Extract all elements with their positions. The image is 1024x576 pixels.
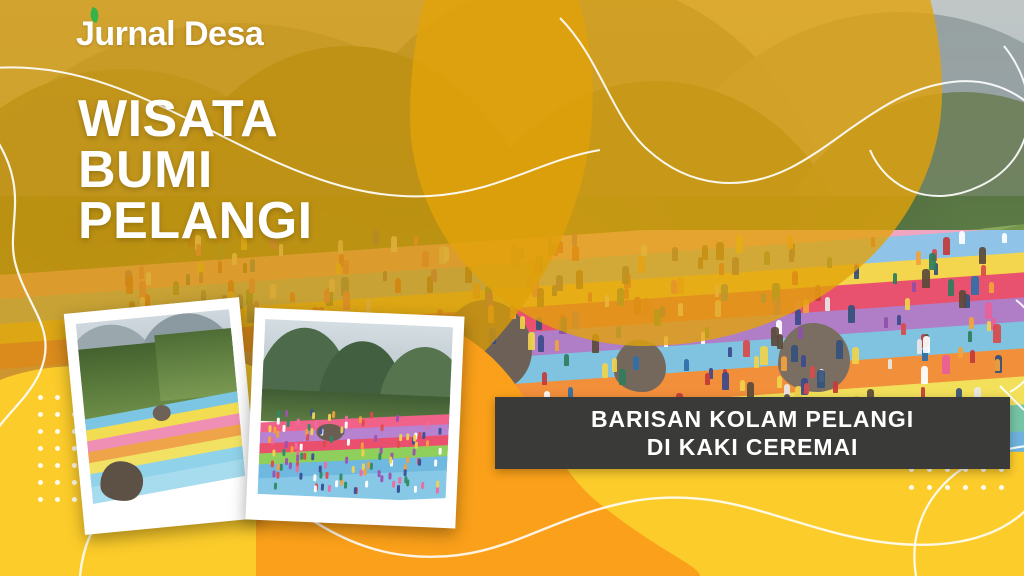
page-title: WISATA BUMI PELANGI: [78, 94, 313, 247]
crowd-figure: [418, 459, 421, 466]
crowd-figure: [764, 251, 770, 265]
crowd-figure: [272, 471, 275, 478]
crowd-figure: [362, 419, 365, 426]
crowd-figure: [422, 432, 425, 439]
grid-dot: [55, 412, 60, 417]
crowd-figure: [232, 253, 237, 265]
crowd-figure: [643, 298, 649, 314]
crowd-figure: [363, 469, 366, 476]
crowd-figure: [338, 240, 343, 253]
crowd-figure: [715, 300, 722, 317]
crowd-figure: [319, 472, 322, 479]
crowd-figure: [854, 265, 859, 278]
crowd-figure: [377, 470, 380, 477]
crowd-figure: [336, 263, 341, 274]
crowd-figure: [426, 422, 429, 429]
crowd-figure: [527, 275, 532, 287]
crowd-figure: [312, 412, 315, 419]
crowd-figure: [300, 473, 303, 480]
grid-dot: [38, 480, 43, 485]
crowd-figure: [431, 269, 436, 282]
crowd-figure: [358, 417, 361, 424]
title-line-1: WISATA: [78, 94, 313, 145]
crowd-figure: [346, 438, 349, 445]
crowd-figure: [365, 480, 368, 487]
crowd-figure: [912, 282, 916, 292]
crowd-figure: [634, 297, 641, 315]
grid-dot: [72, 480, 77, 485]
crowd-figure: [380, 475, 383, 482]
crowd-figure: [306, 434, 309, 441]
crowd-figure: [366, 299, 371, 312]
crowd-figure: [328, 485, 331, 492]
crowd-figure: [398, 477, 401, 484]
crowd-figure: [421, 482, 424, 489]
crowd-figure: [572, 233, 577, 246]
crowd-figure: [146, 272, 151, 285]
crowd-figure: [126, 275, 133, 294]
crowd-figure: [721, 284, 728, 302]
caption-line-2: DI KAKI CEREMAI: [647, 433, 859, 461]
crowd-figure: [641, 244, 646, 257]
crowd-figure: [552, 285, 556, 295]
crowd-figure: [328, 414, 331, 421]
grid-dot: [963, 485, 968, 490]
polaroid-right-image: [258, 319, 453, 502]
dot-grid-left: [38, 395, 77, 502]
crowd-figure: [283, 449, 286, 456]
crowd-figure: [672, 247, 678, 261]
grid-dot: [38, 412, 43, 417]
polaroid-left-image: [76, 309, 247, 508]
brand-logo[interactable]: Jurnal Desa: [76, 17, 263, 51]
grid-dot: [999, 485, 1004, 490]
crowd-figure: [296, 465, 299, 472]
caption-line-1: BARISAN KOLAM PELANGI: [591, 405, 914, 433]
crowd-figure: [335, 481, 338, 488]
grid-dot: [55, 429, 60, 434]
crowd-figure: [300, 444, 303, 451]
crowd-figure: [374, 435, 377, 442]
crowd-figure: [291, 447, 294, 454]
crowd-figure: [345, 457, 348, 464]
crowd-figure: [414, 486, 417, 493]
crowd-figure: [311, 453, 314, 460]
grid-dot: [38, 497, 43, 502]
crowd-figure: [473, 283, 479, 299]
crowd-figure: [792, 271, 797, 284]
crowd-figure: [893, 273, 898, 284]
crowd-figure: [352, 466, 355, 473]
crowd-figure: [313, 475, 316, 482]
crowd-figure: [671, 280, 677, 294]
crowd-figure: [276, 472, 279, 479]
crowd-figure: [285, 410, 288, 417]
crowd-figure: [732, 257, 739, 275]
crowd-figure: [1002, 233, 1006, 243]
crowd-figure: [406, 456, 409, 463]
crowd-figure: [276, 430, 279, 437]
crowd-figure: [273, 426, 276, 433]
grid-dot: [909, 485, 914, 490]
crowd-figure: [373, 230, 379, 244]
grid-dot: [55, 395, 60, 400]
grid-dot: [55, 497, 60, 502]
crowd-figure: [272, 449, 275, 456]
crowd-figure: [297, 419, 300, 426]
crowd-figure: [397, 440, 400, 447]
crowd-figure: [761, 293, 765, 303]
crowd-figure: [391, 236, 397, 252]
crowd-figure: [698, 257, 703, 269]
crowd-figure: [392, 481, 395, 488]
crowd-figure: [774, 297, 781, 316]
crowd-figure: [361, 442, 364, 449]
crowd-figure: [905, 298, 910, 310]
crowd-figure: [638, 256, 645, 273]
crowd-figure: [981, 265, 986, 276]
grid-dot: [38, 395, 43, 400]
crowd-figure: [465, 266, 471, 282]
crowd-figure: [321, 484, 324, 491]
crowd-figure: [414, 236, 418, 247]
grid-dot: [72, 497, 77, 502]
crowd-figure: [287, 420, 290, 427]
crowd-figure: [250, 259, 255, 272]
crowd-figure: [716, 242, 723, 260]
crowd-figure: [827, 257, 832, 268]
crowd-figure: [422, 251, 429, 267]
crowd-figure: [284, 441, 287, 448]
crowd-figure: [438, 448, 441, 455]
crowd-figure: [789, 249, 794, 262]
crowd-figure: [397, 485, 400, 492]
caption-bar: BARISAN KOLAM PELANGI DI KAKI CEREMAI: [495, 397, 1010, 469]
grid-dot: [38, 446, 43, 451]
title-line-2: BUMI: [78, 145, 313, 196]
crowd-figure: [277, 411, 280, 418]
grid-dot: [55, 463, 60, 468]
crowd-figure: [383, 271, 387, 281]
crowd-figure: [332, 411, 335, 418]
crowd-figure: [989, 282, 993, 293]
crowd-figure: [323, 462, 326, 469]
crowd-figure: [444, 247, 450, 261]
crowd-figure: [572, 246, 578, 262]
crowd-figure: [276, 463, 279, 470]
crowd-figure: [284, 458, 287, 465]
crowd-figure: [323, 441, 326, 448]
crowd-figure: [361, 449, 364, 456]
crowd-figure: [943, 237, 950, 255]
crowd-figure: [533, 261, 539, 277]
crowd-figure: [370, 412, 373, 419]
crowd-figure: [319, 428, 322, 435]
crowd-figure: [389, 457, 392, 464]
crowd-figure: [715, 285, 720, 297]
crowd-figure: [736, 235, 743, 253]
crowd-figure: [243, 263, 247, 273]
crowd-figure: [922, 269, 929, 288]
crowd-figure: [971, 276, 978, 295]
crowd-figure: [344, 482, 347, 489]
crowd-figure: [605, 295, 610, 306]
crowd-figure: [617, 288, 624, 306]
crowd-figure: [303, 452, 306, 459]
video-thumbnail: Jurnal Desa WISATA BUMI PELANGI: [0, 0, 1024, 576]
crowd-figure: [173, 281, 179, 296]
crowd-figure: [343, 291, 350, 310]
crowd-figure: [277, 418, 280, 425]
crowd-figure: [270, 284, 276, 299]
grid-dot: [38, 429, 43, 434]
crowd-figure: [815, 285, 821, 301]
crowd-figure: [282, 425, 285, 432]
crowd-figure: [871, 237, 875, 247]
crowd-figure: [249, 278, 255, 293]
crowd-figure: [267, 437, 270, 444]
crowd-figure: [558, 241, 563, 254]
crowd-figure: [537, 288, 544, 307]
crowd-figure: [295, 443, 298, 450]
crowd-figure: [553, 243, 558, 256]
crowd-figure: [548, 232, 553, 244]
crowd-figure: [406, 433, 409, 440]
crowd-figure: [719, 263, 724, 275]
crowd-figure: [418, 432, 421, 439]
crowd-figure: [186, 274, 191, 285]
polaroid-photo-right[interactable]: [245, 308, 464, 529]
crowd-figure: [330, 436, 333, 443]
crowd-figure: [929, 253, 936, 270]
crowd-figure: [396, 414, 399, 421]
crowd-figure: [825, 297, 831, 311]
crowd-figure: [624, 288, 629, 300]
crowd-figure: [325, 472, 328, 479]
crowd-figure: [314, 420, 317, 427]
crowd-figure: [139, 266, 144, 279]
crowd-figure: [412, 448, 415, 455]
crowd-figure: [289, 462, 292, 469]
crowd-figure: [290, 292, 294, 303]
crowd-figure: [359, 470, 362, 477]
crowd-figure: [979, 247, 986, 265]
crowd-figure: [436, 481, 439, 488]
crowd-figure: [296, 454, 299, 461]
crowd-figure: [388, 473, 391, 480]
crowd-figure: [381, 424, 384, 431]
crowd-figure: [271, 438, 274, 445]
crowd-figure: [329, 279, 334, 293]
grid-dot: [927, 485, 932, 490]
crowd-figure: [678, 303, 683, 316]
crowd-figure: [199, 272, 204, 283]
crowd-figure: [622, 266, 629, 284]
crowd-figure: [399, 434, 402, 441]
crowd-figure: [378, 453, 381, 460]
grid-dot: [55, 480, 60, 485]
grid-dot: [945, 485, 950, 490]
crowd-figure: [311, 428, 314, 435]
crowd-figure: [314, 485, 317, 492]
crowd-figure: [519, 248, 523, 258]
grid-dot: [38, 463, 43, 468]
crowd-figure: [218, 261, 223, 272]
crowd-figure: [787, 235, 792, 248]
crowd-figure: [660, 306, 664, 317]
crowd-figure: [548, 243, 553, 254]
grid-dot: [981, 485, 986, 490]
grid-dot: [55, 446, 60, 451]
grid-dot: [72, 463, 77, 468]
brand-logo-text: Jurnal Desa: [76, 15, 263, 53]
crowd-figure: [511, 245, 519, 264]
crowd-figure: [959, 290, 966, 308]
crowd-figure: [271, 461, 274, 468]
polaroid-photo-left[interactable]: [64, 297, 260, 535]
title-line-3: PELANGI: [78, 196, 313, 247]
crowd-figure: [803, 299, 808, 312]
crowd-figure: [343, 260, 349, 275]
crowd-figure: [948, 279, 955, 296]
crowd-figure: [576, 270, 583, 289]
crowd-figure: [916, 251, 922, 265]
crowd-figure: [434, 460, 437, 467]
crowd-figure: [959, 231, 964, 244]
crowd-figure: [268, 425, 271, 432]
crowd-figure: [588, 292, 592, 302]
crowd-figure: [395, 278, 401, 293]
crowd-figure: [280, 464, 283, 471]
crowd-figure: [274, 482, 277, 489]
crowd-figure: [345, 421, 348, 428]
crowd-figure: [677, 277, 684, 294]
crowd-figure: [403, 469, 406, 476]
crowd-figure: [439, 427, 442, 434]
crowd-figure: [556, 275, 562, 291]
crowd-figure: [426, 440, 429, 447]
